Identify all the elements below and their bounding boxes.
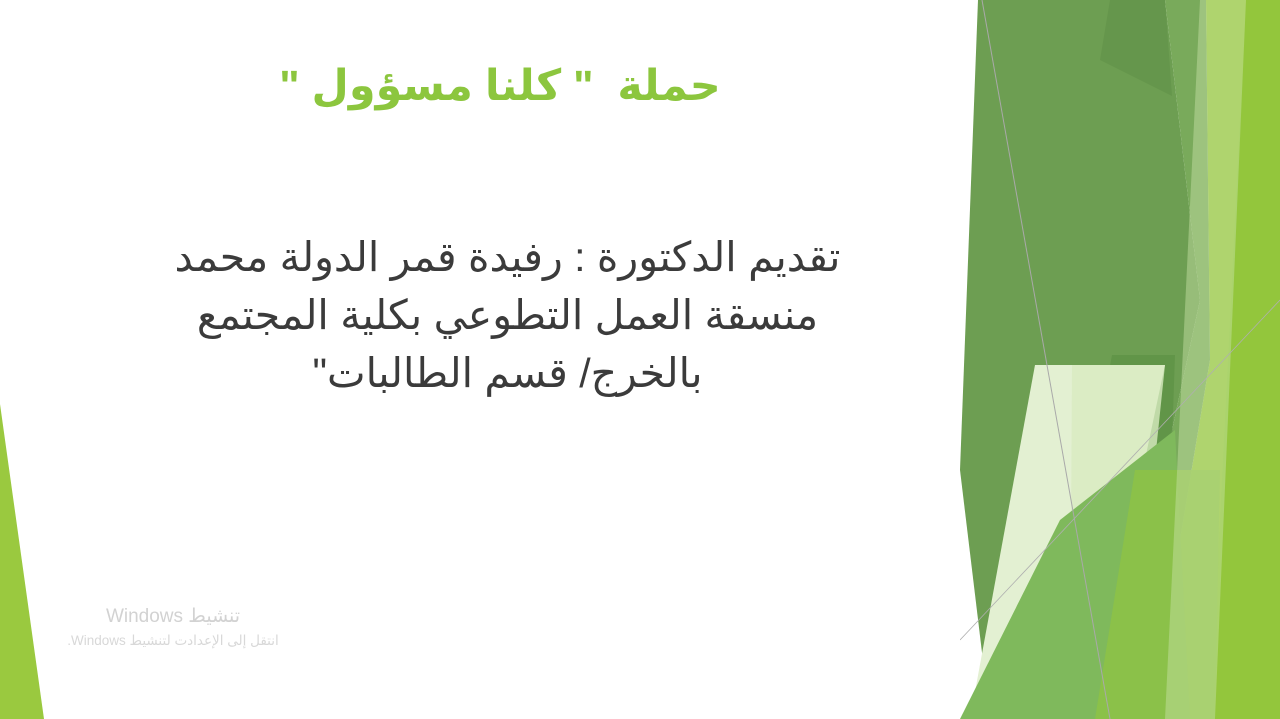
- slide-title-placeholder: حملة " كلنا مسؤول ": [60, 60, 940, 114]
- dark-green-wedge: [960, 0, 1200, 719]
- facet-green-polygons-graphic: [960, 0, 1280, 719]
- lower-green-overlay: [1095, 470, 1220, 719]
- right-decoration-svg: [960, 0, 1280, 719]
- presentation-slide: حملة " كلنا مسؤول " تقديم الدكتورة : رفي…: [0, 0, 1280, 719]
- watermark-title: تنشيط Windows: [48, 604, 298, 630]
- lower-green-slab: [960, 430, 1190, 719]
- left-green-sliver: [0, 404, 44, 719]
- pale-right-band: [1165, 0, 1246, 719]
- lime-band-shape: [1150, 0, 1280, 719]
- windows-activation-watermark: تنشيط Windows انتقل إلى الإعدادت لتنشيط …: [48, 604, 298, 651]
- page-title: حملة " كلنا مسؤول ": [60, 60, 940, 114]
- body-line-3: بالخرج/ قسم الطالبات": [60, 344, 955, 402]
- dark-triangle-mid: [1100, 355, 1175, 500]
- body-line-2: منسقة العمل التطوعي بكلية المجتمع: [60, 286, 955, 344]
- pale-green-triangle: [970, 365, 1165, 719]
- lime-band-shape-2: [1210, 0, 1280, 719]
- pale-green-triangle-2: [1070, 365, 1165, 719]
- slide-body-placeholder: تقديم الدكتورة : رفيدة قمر الدولة محمد م…: [60, 228, 955, 403]
- dark-shadow-triangle: [1100, 0, 1172, 96]
- mid-green-wedge: [1110, 0, 1210, 719]
- body-line-1: تقديم الدكتورة : رفيدة قمر الدولة محمد: [60, 228, 955, 286]
- hairline-diagonal-2: [960, 300, 1280, 640]
- hairline-diagonal-1: [982, 0, 1110, 719]
- watermark-subtitle: انتقل إلى الإعدادت لتنشيط Windows.: [48, 632, 298, 651]
